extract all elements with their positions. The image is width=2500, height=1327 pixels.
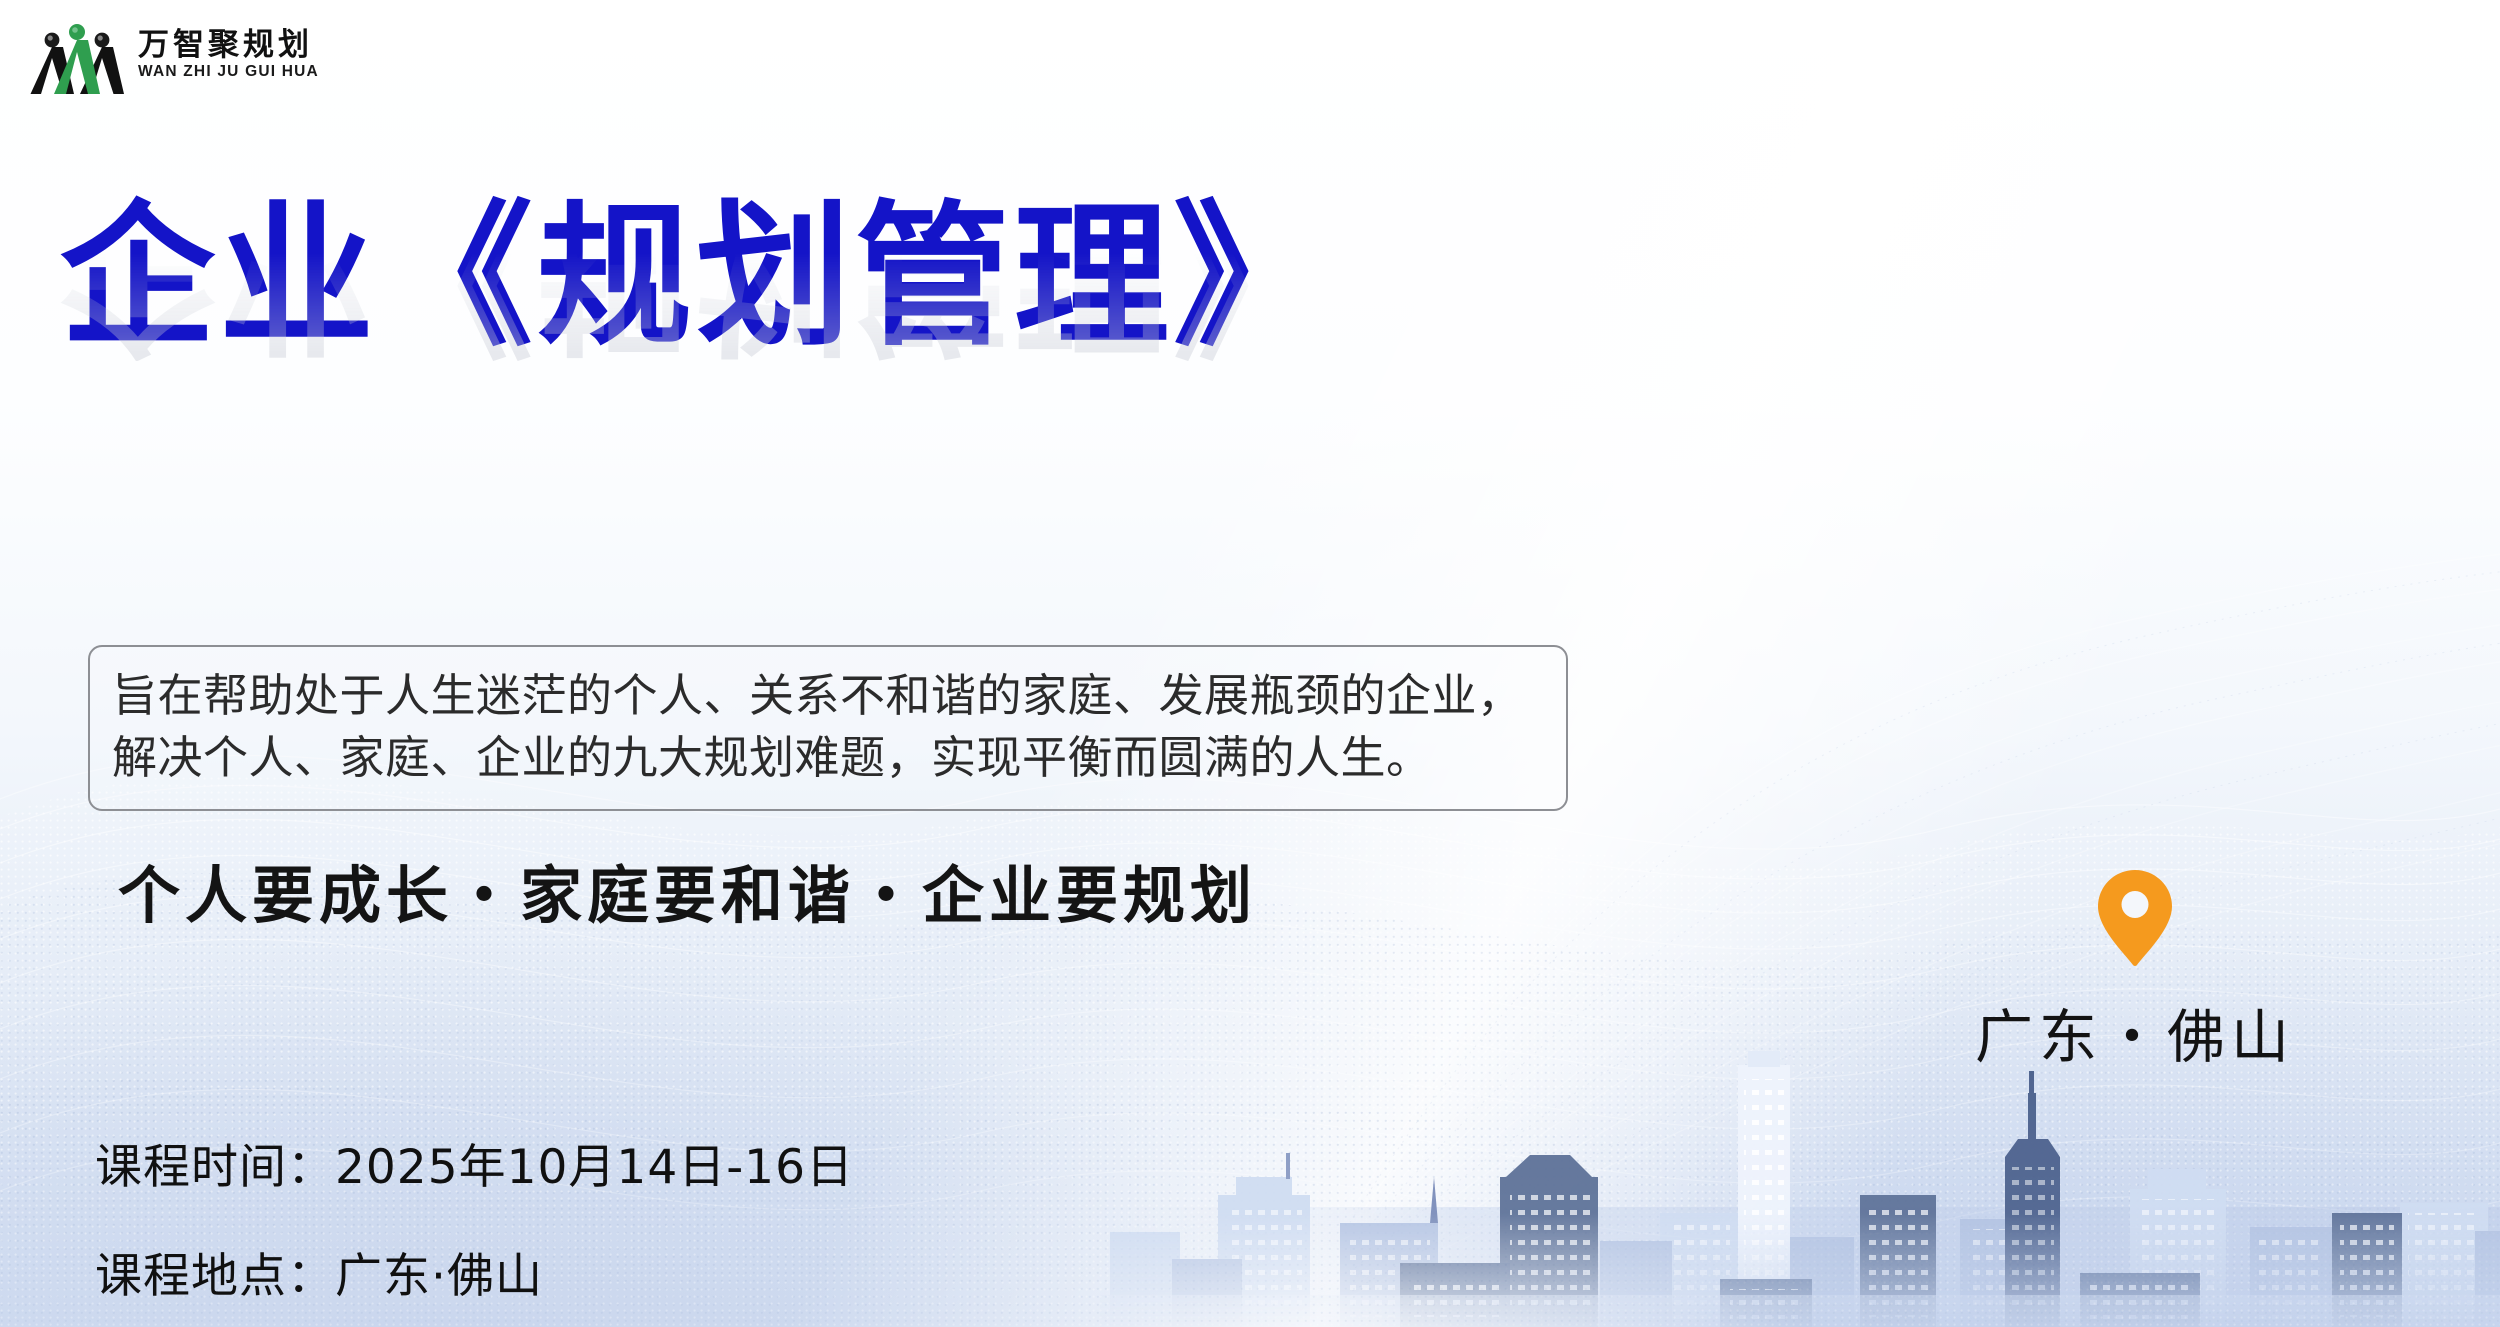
title-block: 企业《规划管理》 企业《规划管理》 <box>60 196 1620 479</box>
tagline: 个人要成长・家庭要和谐・企业要规划 <box>118 845 1257 935</box>
promo-banner: 万智聚规划 WAN ZHI JU GUI HUA 企业《规划管理》 企业《规划管… <box>0 0 2500 1327</box>
map-pin-icon <box>2096 868 2174 968</box>
description-line-1: 旨在帮助处于人生迷茫的个人、关系不和谐的家庭、发展瓶颈的企业， <box>112 665 1544 727</box>
course-time: 课程时间：2025年10月14日-16日 <box>95 1128 854 1197</box>
logo-chinese-name: 万智聚规划 <box>138 30 319 61</box>
location-label: 广东・佛山 <box>1955 990 2315 1074</box>
course-place: 课程地点：广东·佛山 <box>95 1237 854 1306</box>
logo-pinyin: WAN ZHI JU GUI HUA <box>138 64 319 80</box>
description-box: 旨在帮助处于人生迷茫的个人、关系不和谐的家庭、发展瓶颈的企业， 解决个人、家庭、… <box>88 645 1568 811</box>
three-people-logo-icon <box>30 14 124 96</box>
description-line-2: 解决个人、家庭、企业的九大规划难题，实现平衡而圆满的人生。 <box>112 727 1544 789</box>
location-group: 广东・佛山 <box>1955 868 2315 1074</box>
course-info: 课程时间：2025年10月14日-16日 课程地点：广东·佛山 <box>95 1128 854 1306</box>
brand-logo[interactable]: 万智聚规划 WAN ZHI JU GUI HUA <box>30 14 319 96</box>
page-title-reflection: 企业《规划管理》 <box>60 243 1620 361</box>
logo-text-group: 万智聚规划 WAN ZHI JU GUI HUA <box>138 30 319 80</box>
